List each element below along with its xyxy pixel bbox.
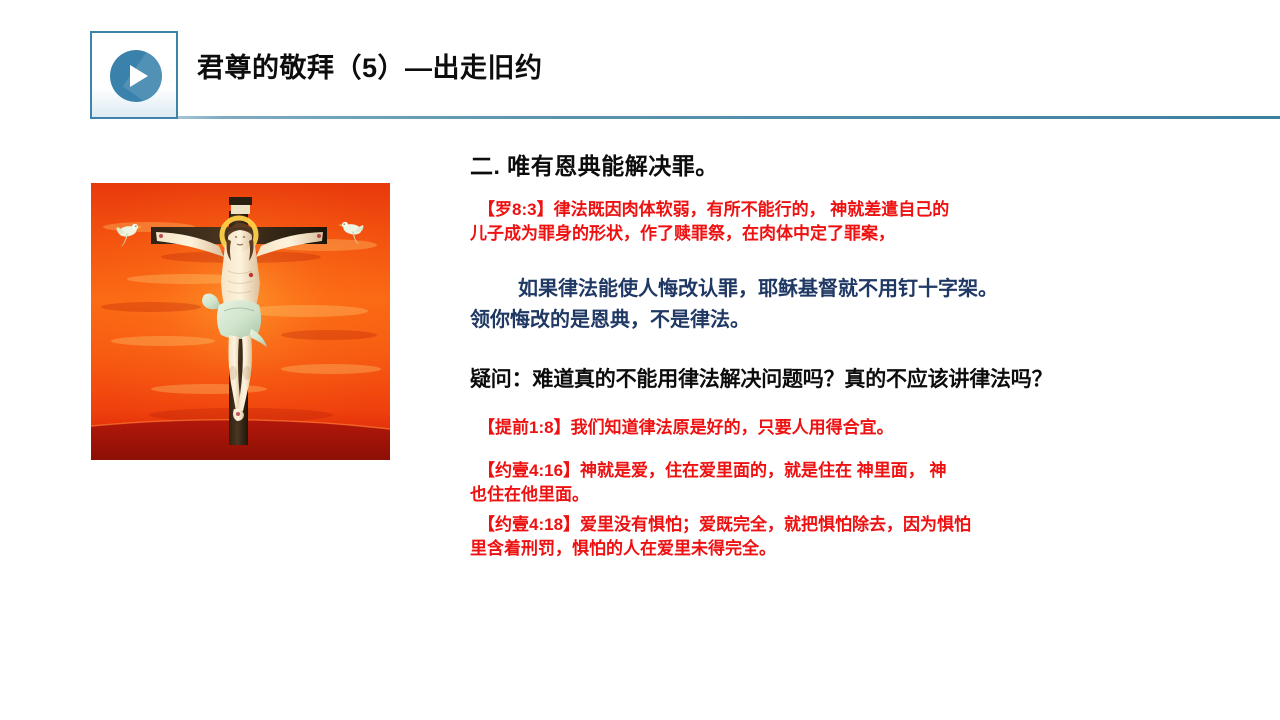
verse-john-4-16-line1: 神就是爱，住在爱里面的，就是住在 神里面， 神 <box>580 461 946 480</box>
verse-john-4-18-seg-e: 为 <box>920 515 937 534</box>
slide-root: 君尊的敬拜（5）—出走旧约 <box>0 0 1280 720</box>
teaching-note: 如果律法能使人悔改认罪，耶稣基督就不用钉十字架。 领你悔改的是恩典，不是律法。 <box>470 274 1150 336</box>
content-column: 二. 唯有恩典能解决罪。 【罗8:3】律法既因肉体软弱，有所不能行的， 神就差遣… <box>470 152 1150 567</box>
verse-john-4-18-seg-f: 惧怕 <box>937 515 971 534</box>
verse-john-4-18: 【约壹4:18】爱里没有惧怕；爱既完全，就把惧怕除去，因为惧怕 里含着刑罚，惧怕… <box>470 513 1150 561</box>
verse-john-4-18-seg-c: 爱既完全 <box>699 515 767 534</box>
spacer-after-romans <box>470 252 1150 274</box>
verse-john-4-18-seg-a: 爱 <box>580 515 597 534</box>
verse-romans-line1: 律法既因肉体软弱，有所不能行的， 神就差遣自己的 <box>554 200 950 219</box>
verse-john-4-18-seg-k: 里未得完全。 <box>674 539 776 558</box>
verse-john-4-18-seg-b: 里没有惧怕； <box>597 515 699 534</box>
verse-timothy-ref: 【提前1:8】 <box>478 418 571 437</box>
teaching-note-line1: 如果律法能使人悔改认罪，耶稣基督就不用钉十字架。 <box>470 278 998 300</box>
verse-john-4-18-seg-j: 爱 <box>657 539 674 558</box>
section-heading: 二. 唯有恩典能解决罪。 <box>470 152 1150 182</box>
verse-john-4-16-line2: 也住在他里面。 <box>470 485 589 504</box>
spacer-after-note <box>470 336 1150 366</box>
spacer-after-timothy <box>470 447 1150 459</box>
verse-timothy-line1: 我们知道律法原是好的，只要人用得合宜。 <box>571 418 894 437</box>
crucifixion-image <box>91 183 390 460</box>
slide-header: 君尊的敬拜（5）—出走旧约 <box>0 0 1280 130</box>
verse-romans: 【罗8:3】律法既因肉体软弱，有所不能行的， 神就差遣自己的 儿子成为罪身的形状… <box>470 198 1150 246</box>
spacer-after-question <box>470 394 1150 416</box>
verse-john-4-18-seg-g: 里含着刑 <box>470 539 538 558</box>
question-line: 疑问：难道真的不能用律法解决问题吗？真的不应该讲律法吗？ <box>470 366 1150 394</box>
verse-john-4-16-ref: 【约壹4:16】 <box>478 461 580 480</box>
verse-john-4-18-seg-d: ，就把惧怕除去，因 <box>767 515 920 534</box>
verse-timothy: 【提前1:8】我们知道律法原是好的，只要人用得合宜。 <box>470 416 1150 440</box>
verse-romans-ref: 【罗8:3】 <box>478 200 554 219</box>
verse-john-4-18-seg-i: ，惧怕的人在 <box>555 539 657 558</box>
play-triangle-icon <box>130 65 148 87</box>
verse-romans-line2: 儿子成为罪身的形状，作了赎罪祭，在肉体中定了罪案， <box>470 224 895 243</box>
verse-john-4-18-seg-h: 罚 <box>538 539 555 558</box>
header-divider-line <box>130 116 1280 119</box>
verse-john-4-16: 【约壹4:16】神就是爱，住在爱里面的，就是住在 神里面， 神 也住在他里面。 <box>470 459 1150 507</box>
play-button-icon[interactable] <box>110 50 162 102</box>
verse-john-4-18-ref: 【约壹4:18】 <box>478 515 580 534</box>
page-title: 君尊的敬拜（5）—出走旧约 <box>197 46 543 85</box>
teaching-note-line2: 领你悔改的是恩典，不是律法。 <box>470 309 750 331</box>
